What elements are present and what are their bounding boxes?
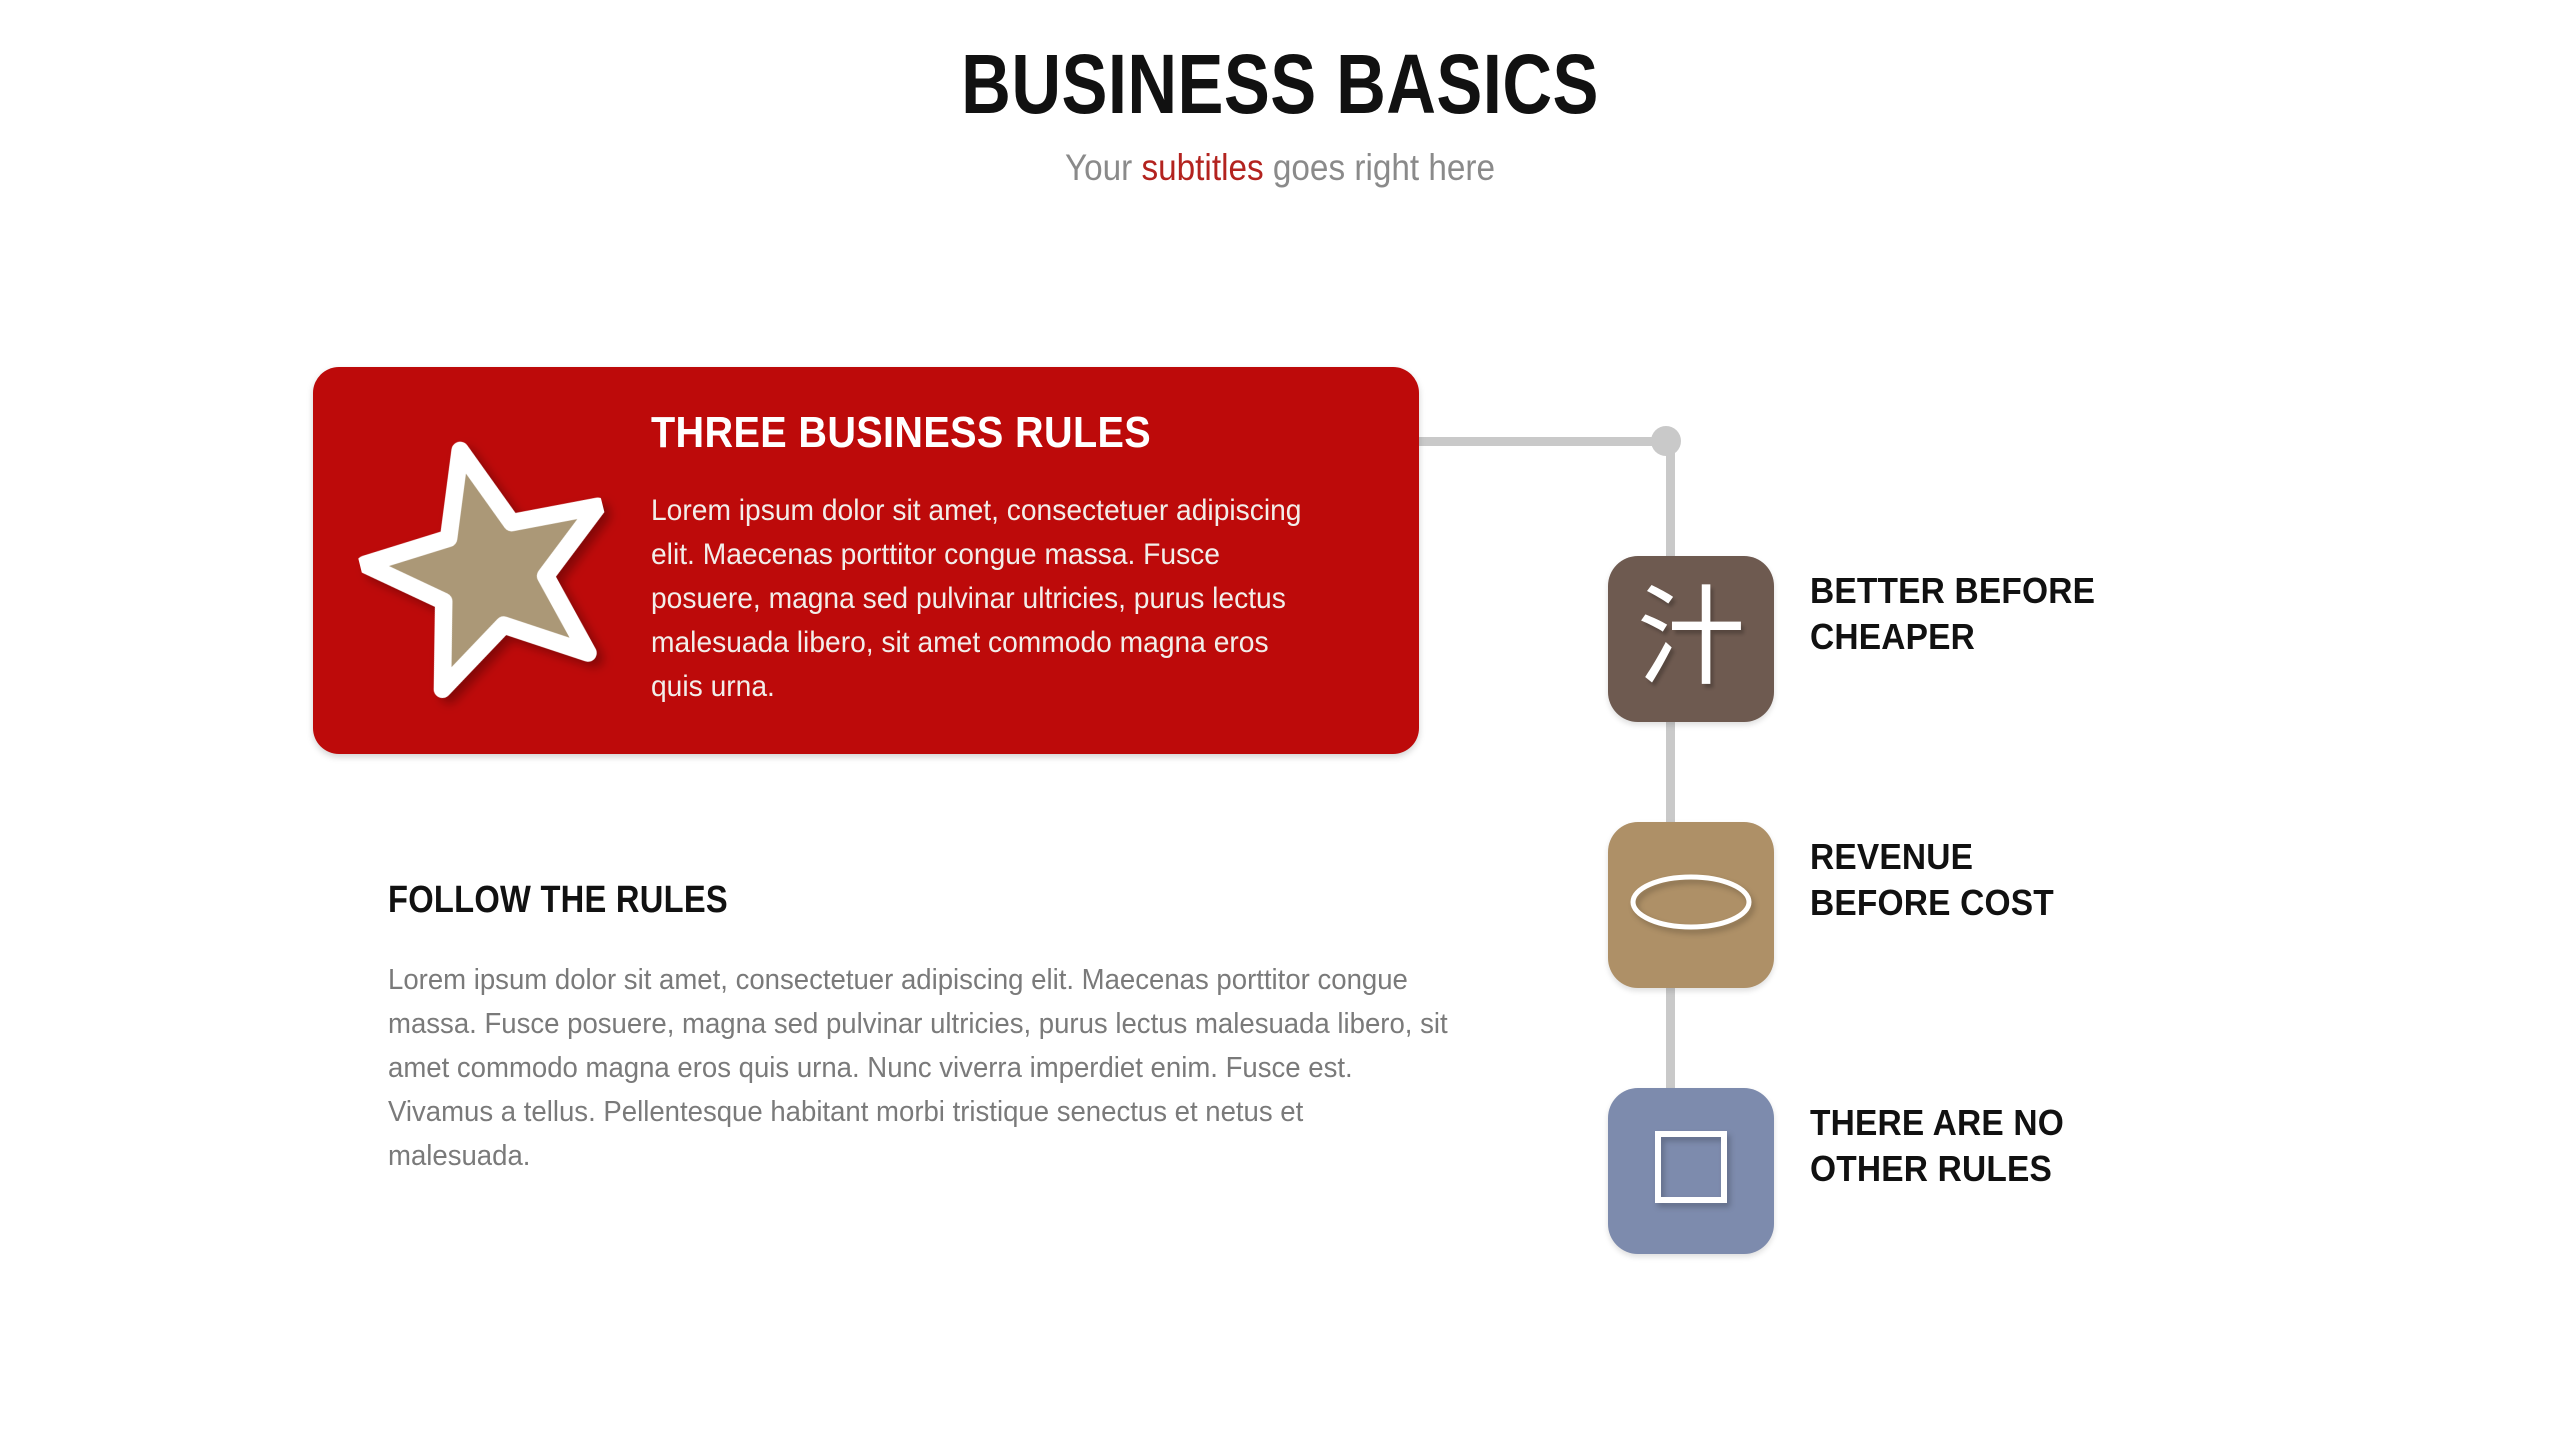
card-description: Lorem ipsum dolor sit amet, consectetuer… bbox=[651, 489, 1309, 708]
square-outline-icon bbox=[1608, 1088, 1774, 1254]
follow-the-rules-title: FOLLOW THE RULES bbox=[388, 880, 1351, 922]
step-item-3[interactable] bbox=[1608, 1088, 1774, 1254]
page-title: BUSINESS BASICS bbox=[230, 40, 2329, 128]
subtitle-trail: goes right here bbox=[1264, 147, 1495, 188]
slide-canvas: BUSINESS BASICS Your subtitles goes righ… bbox=[0, 0, 2560, 1440]
step-item-2[interactable] bbox=[1608, 822, 1774, 988]
three-business-rules-card[interactable]: THREE BUSINESS RULES Lorem ipsum dolor s… bbox=[313, 367, 1419, 754]
ellipse-outline-icon bbox=[1608, 822, 1774, 988]
connector-node-circle bbox=[1651, 426, 1681, 456]
connector-line-horizontal bbox=[1418, 437, 1673, 446]
star-icon bbox=[363, 437, 613, 687]
step-label-1: BETTER BEFORE CHEAPER bbox=[1810, 568, 2095, 660]
follow-the-rules-block: FOLLOW THE RULES Lorem ipsum dolor sit a… bbox=[388, 880, 1508, 1178]
slide-header: BUSINESS BASICS Your subtitles goes righ… bbox=[0, 40, 2560, 191]
subtitle-accent: subtitles bbox=[1141, 147, 1263, 188]
cjk-glyph-icon: 汁 bbox=[1608, 556, 1774, 722]
step-label-2: REVENUE BEFORE COST bbox=[1810, 834, 2054, 926]
step-item-1[interactable]: 汁 bbox=[1608, 556, 1774, 722]
follow-the-rules-text: Lorem ipsum dolor sit amet, consectetuer… bbox=[388, 958, 1452, 1178]
page-subtitle: Your subtitles goes right here bbox=[128, 146, 2432, 190]
step-label-3: THERE ARE NO OTHER RULES bbox=[1810, 1100, 2064, 1192]
subtitle-lead: Your bbox=[1065, 147, 1142, 188]
card-body: THREE BUSINESS RULES Lorem ipsum dolor s… bbox=[651, 409, 1351, 708]
card-title: THREE BUSINESS RULES bbox=[651, 409, 1281, 457]
